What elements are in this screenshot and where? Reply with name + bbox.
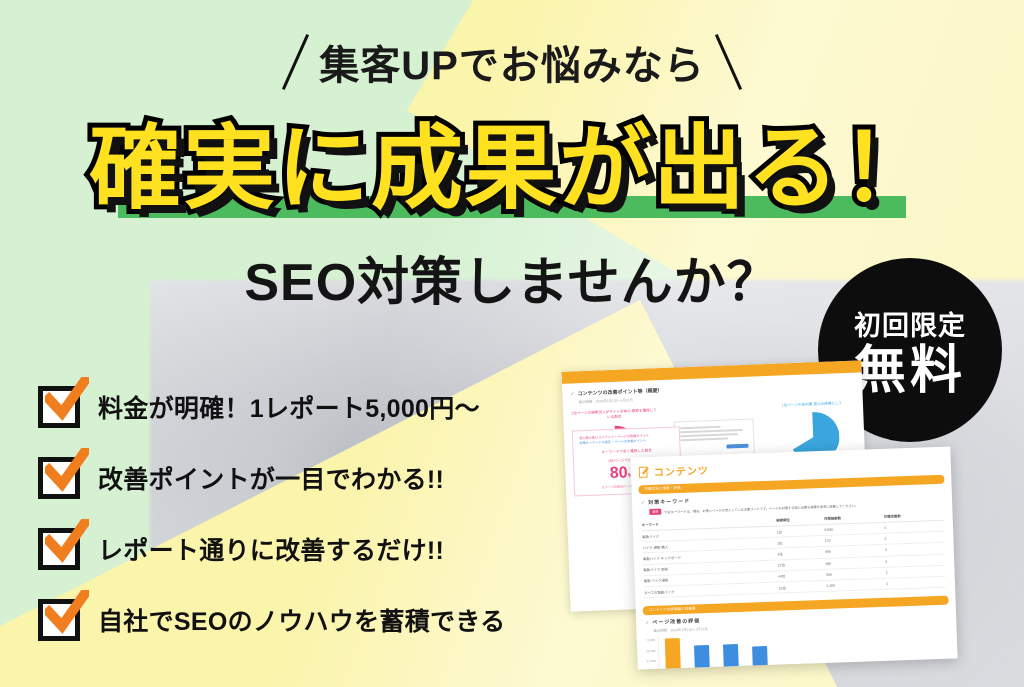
mini-card-line [680, 426, 721, 429]
chart-section-title: ページ改善の評価 [652, 617, 700, 626]
check-icon: ✓ [641, 500, 645, 506]
list-item: 料金が明確！1レポート5,000円〜 [38, 373, 598, 441]
note-tag-badge: 重要 [649, 509, 661, 515]
chart-column: 1位目 [694, 645, 710, 669]
pie-chart-right-caption: 1位ページの未対策 見込み候補として [769, 401, 855, 410]
keyword-section: ✓ 対策キーワード 重要 下記キーワードは、現在、お使いページの流入している主要… [632, 483, 955, 598]
main-headline-group: 確実に成果が出る！ [0, 115, 1024, 225]
chart-y-tick: 5,0,000 [646, 649, 655, 653]
free-badge-top-label: 初回限定 [854, 304, 966, 343]
list-item-label: 改善ポイントが一目でわかる!! [98, 460, 444, 496]
table-cell: 1 [886, 576, 946, 589]
banner-canvas: 集客UPでお悩みなら 確実に成果が出る！ SEO対策しませんか？ 初回限定 無料… [0, 0, 1024, 687]
chart-bar [723, 644, 739, 669]
checkmark-icon [45, 519, 89, 563]
chart-y-axis: 7,0,000 5,0,000 3,0,000 1,0,000 0 [646, 638, 657, 669]
keyword-table: キーワード 検索順位 月間検索数 対策改善数 電動バイク 1位 6,000 4 … [642, 510, 947, 599]
dashboard-front-title: コンテンツ [654, 462, 709, 479]
list-item: レポート通りに改善するだけ!! [38, 515, 598, 583]
chart-bar [665, 638, 681, 670]
mini-card-line [680, 429, 743, 433]
checkbox-icon [38, 457, 80, 499]
table-cell: 15位 [778, 580, 826, 593]
eyebrow-headline: 集客UPでお悩みなら [0, 32, 1024, 92]
slash-right-icon [715, 34, 742, 90]
chart-y-tick: 7,0,000 [646, 638, 655, 642]
slash-left-icon [282, 34, 309, 90]
list-item: 自社でSEOのノウハウを蓄積できる [38, 586, 598, 654]
list-item-label: レポート通りに改善するだけ!! [98, 531, 444, 567]
chart-column: 電動バイク [665, 638, 682, 670]
keyword-section-title: 対策キーワード [648, 498, 690, 506]
table-cell: 1,400 [826, 578, 886, 591]
mini-card-line [680, 433, 738, 437]
list-item-label: 自社でSEOのノウハウを蓄積できる [98, 602, 505, 638]
checkmark-icon [45, 377, 89, 421]
document-edit-icon [639, 465, 650, 477]
chart-bar [694, 645, 710, 669]
eyebrow-text: 集客UPでお悩みなら [319, 33, 705, 91]
checkbox-icon [38, 528, 80, 570]
main-headline: 確実に成果が出る！ [0, 115, 1024, 223]
check-icon: ✓ [645, 620, 649, 626]
list-item: 改善ポイントが一目でわかる!! [38, 444, 598, 512]
dashboard-front-panel: コンテンツ 対策状況と推移・評価 ✓ 対策キーワード 重要 下記キーワードは、現… [630, 446, 957, 669]
mini-card-button[interactable] [726, 443, 748, 448]
checkbox-icon [38, 599, 80, 641]
mini-card-line [680, 438, 728, 441]
checkmark-icon [45, 590, 89, 634]
highlight-value-number: 80 [610, 464, 628, 482]
pie-chart-left-caption: 1位ページの検索流入がサイト全体の 検索を獲得している割合 [571, 408, 657, 422]
chart-y-tick: 3,0,000 [646, 659, 655, 663]
free-badge-main-label: 無料 [854, 345, 966, 397]
chart-column: 2位目 [723, 644, 739, 669]
checkbox-icon [38, 386, 80, 428]
benefits-checklist: 料金が明確！1レポート5,000円〜 改善ポイントが一目でわかる!! レポート通… [38, 373, 598, 657]
highlight-heading: キーワードで多く獲得した割合 [580, 447, 674, 456]
list-item-label: 料金が明確！1レポート5,000円〜 [98, 389, 480, 425]
check-icon: ✓ [570, 391, 574, 397]
checkmark-icon [45, 448, 89, 492]
